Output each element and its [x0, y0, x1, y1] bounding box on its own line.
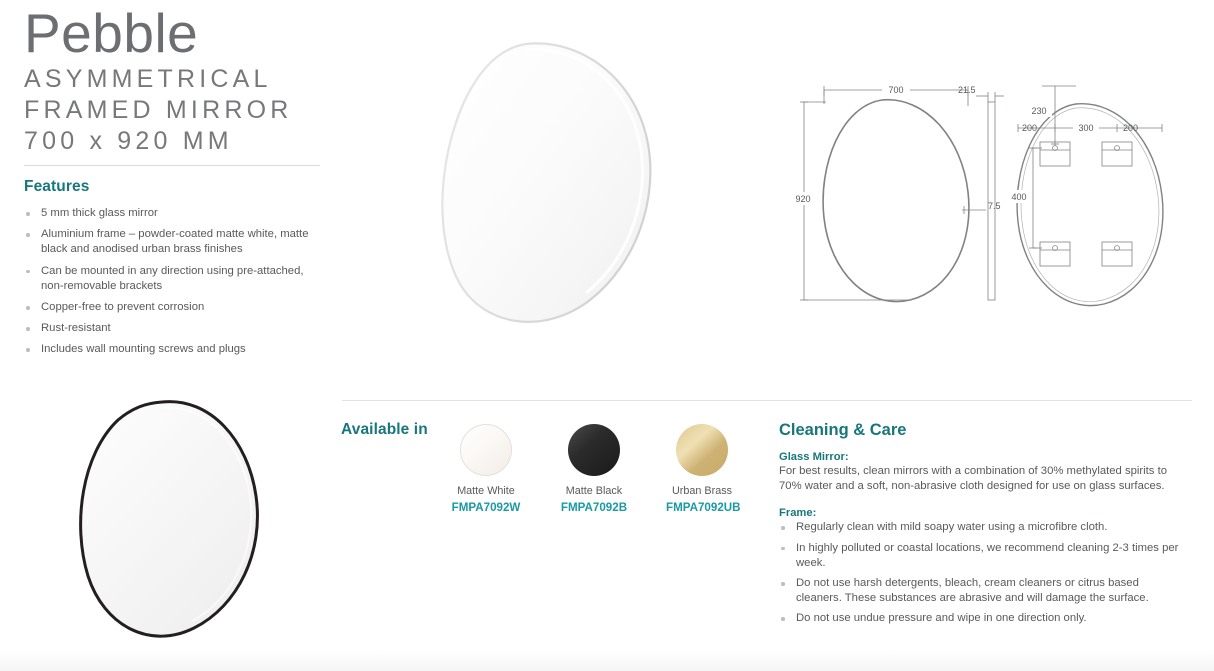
- side-view: 21.5: [958, 85, 1004, 300]
- features-heading: Features: [24, 178, 324, 196]
- dim-label-depth: 21.5: [958, 85, 976, 95]
- bracket-bottom-left: [1040, 242, 1070, 266]
- dim-label-frame: 7.5: [988, 201, 1001, 211]
- hero-mirror-image: [430, 32, 675, 332]
- list-item: Do not use undue pressure and wipe in on…: [779, 611, 1179, 626]
- swatch-urban-brass[interactable]: Urban Brass FMPA7092UB: [666, 424, 738, 514]
- swatch-sku: FMPA7092W: [450, 501, 522, 514]
- rear-view: 230 300 200: [1006, 86, 1163, 306]
- product-subtitle: ASYMMETRICAL FRAMED MIRROR 700 x 920 MM: [24, 64, 334, 157]
- middle-divider: [342, 400, 1192, 401]
- features-list: 5 mm thick glass mirror Aluminium frame …: [24, 206, 324, 358]
- list-item: Aluminium frame – powder-coated matte wh…: [24, 227, 324, 257]
- dim-label-width: 700: [888, 85, 903, 95]
- black-mirror-image: [62, 392, 286, 648]
- swatch-matte-white[interactable]: Matte White FMPA7092W: [450, 424, 522, 514]
- glass-mirror-body: For best results, clean mirrors with a c…: [779, 464, 1179, 494]
- swatch-color-icon: [676, 424, 728, 476]
- list-item: In highly polluted or coastal locations,…: [779, 541, 1179, 571]
- swatch-color-icon: [568, 424, 620, 476]
- svg-text:400: 400: [1011, 192, 1026, 202]
- svg-text:200: 200: [1123, 123, 1138, 133]
- swatch-matte-black[interactable]: Matte Black FMPA7092B: [558, 424, 630, 514]
- dim-height-920: 920: [790, 102, 910, 300]
- bracket-top-right: [1102, 142, 1132, 166]
- list-item: Can be mounted in any direction using pr…: [24, 264, 324, 294]
- list-item: Do not use harsh detergents, bleach, cre…: [779, 576, 1179, 606]
- dim-label-height: 920: [795, 194, 810, 204]
- dim-rear-200-right: 200: [1117, 123, 1162, 133]
- svg-text:230: 230: [1031, 106, 1046, 116]
- technical-drawings: 700 920 7.5: [790, 82, 1170, 318]
- swatch-sku: FMPA7092B: [558, 501, 630, 514]
- bracket-bottom-right: [1102, 242, 1132, 266]
- care-heading: Cleaning & Care: [779, 421, 1179, 440]
- list-item: 5 mm thick glass mirror: [24, 206, 324, 221]
- swatch-name: Urban Brass: [666, 485, 738, 497]
- swatch-color-icon: [460, 424, 512, 476]
- list-item: Regularly clean with mild soapy water us…: [779, 520, 1179, 535]
- product-name: Pebble: [24, 4, 334, 62]
- svg-text:300: 300: [1078, 123, 1093, 133]
- spec-sheet-page: Pebble ASYMMETRICAL FRAMED MIRROR 700 x …: [0, 0, 1214, 671]
- front-view-outline: [823, 100, 969, 302]
- dim-rear-300: 300: [1055, 121, 1117, 134]
- dim-rear-200-left: 200: [1018, 123, 1055, 133]
- dim-width-700: 700: [824, 83, 968, 106]
- swatch-sku: FMPA7092UB: [666, 501, 738, 514]
- frame-care-list: Regularly clean with mild soapy water us…: [779, 520, 1179, 626]
- features-section: Features 5 mm thick glass mirror Alumini…: [24, 178, 324, 364]
- list-item: Includes wall mounting screws and plugs: [24, 342, 324, 357]
- glass-mirror-label: Glass Mirror:: [779, 451, 1179, 463]
- swatch-name: Matte Black: [558, 485, 630, 497]
- swatch-list: Matte White FMPA7092W Matte Black FMPA70…: [450, 424, 738, 514]
- svg-text:200: 200: [1022, 123, 1037, 133]
- title-divider: [24, 165, 320, 166]
- list-item: Copper-free to prevent corrosion: [24, 300, 324, 315]
- bottom-band: [0, 649, 1214, 671]
- swatch-name: Matte White: [450, 485, 522, 497]
- cleaning-care-section: Cleaning & Care Glass Mirror: For best r…: [779, 421, 1179, 632]
- frame-label: Frame:: [779, 507, 1179, 519]
- list-item: Rust-resistant: [24, 321, 324, 336]
- title-block: Pebble ASYMMETRICAL FRAMED MIRROR 700 x …: [24, 4, 334, 157]
